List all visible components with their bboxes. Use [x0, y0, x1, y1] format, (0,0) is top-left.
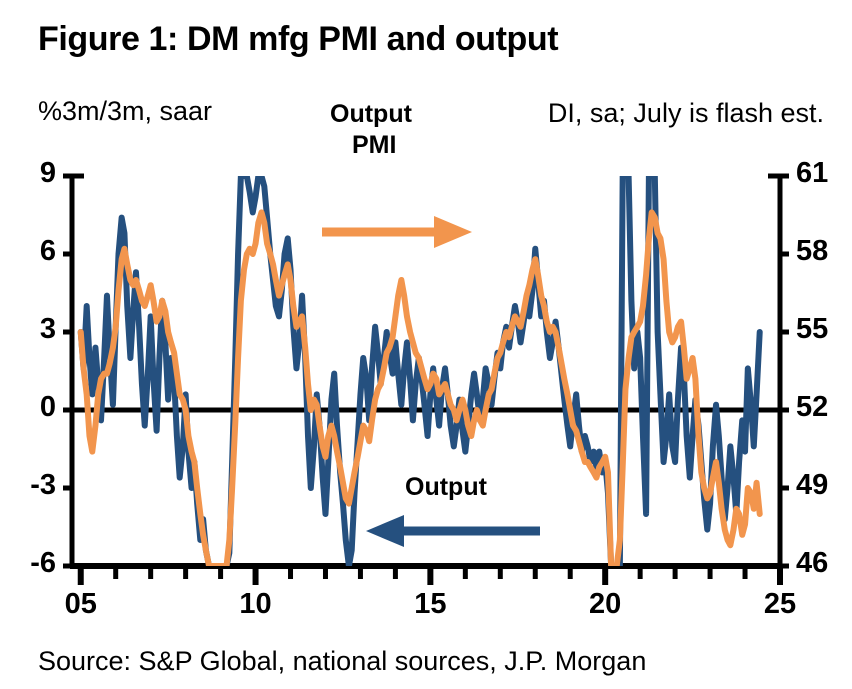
- chart-plot-area: [0, 0, 852, 689]
- left-axis-label-0: 0: [40, 391, 56, 424]
- right-axis-label-58: 58: [796, 235, 828, 268]
- figure-container: Figure 1: DM mfg PMI and output %3m/3m, …: [0, 0, 852, 689]
- x-axis-label-25: 25: [750, 588, 810, 621]
- right-axis-label-46: 46: [796, 547, 828, 580]
- left-axis-label-3: 3: [40, 313, 56, 346]
- left-axis-label-6: 6: [40, 235, 56, 268]
- left-axis-label-9: 9: [40, 157, 56, 190]
- output-arrow-left-icon: [366, 515, 540, 547]
- right-axis-label-55: 55: [796, 313, 828, 346]
- left-axis-label--3: -3: [30, 469, 56, 502]
- figure-source: Source: S&P Global, national sources, J.…: [38, 646, 646, 677]
- left-axis-label--6: -6: [30, 547, 56, 580]
- x-axis-label-20: 20: [575, 588, 635, 621]
- pmi-arrow-right-icon: [322, 216, 472, 248]
- x-axis-label-10: 10: [226, 588, 286, 621]
- x-axis-label-15: 15: [400, 588, 460, 621]
- right-axis-label-52: 52: [796, 391, 828, 424]
- right-axis-label-61: 61: [796, 157, 828, 190]
- x-axis-label-05: 05: [51, 588, 111, 621]
- right-axis-label-49: 49: [796, 469, 828, 502]
